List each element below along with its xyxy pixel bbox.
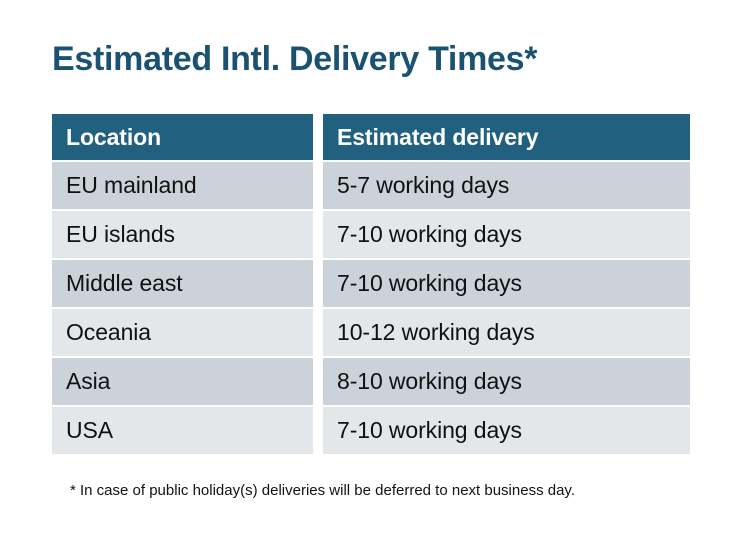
column-header-estimated-delivery: Estimated delivery	[323, 114, 690, 160]
table-row: Middle east 7-10 working days	[52, 260, 690, 307]
table-row: Oceania 10-12 working days	[52, 309, 690, 356]
cell-location: EU islands	[52, 211, 313, 258]
cell-estimated-delivery: 7-10 working days	[323, 211, 690, 258]
table-row: Asia 8-10 working days	[52, 358, 690, 405]
table-header-row: Location Estimated delivery	[52, 114, 690, 160]
cell-location: Oceania	[52, 309, 313, 356]
table-row: EU islands 7-10 working days	[52, 211, 690, 258]
cell-estimated-delivery: 7-10 working days	[323, 407, 690, 454]
cell-estimated-delivery: 5-7 working days	[323, 162, 690, 209]
delivery-times-page: Estimated Intl. Delivery Times* Location…	[0, 0, 745, 536]
table-row: USA 7-10 working days	[52, 407, 690, 454]
table-row: EU mainland 5-7 working days	[52, 162, 690, 209]
cell-location: EU mainland	[52, 162, 313, 209]
cell-estimated-delivery: 7-10 working days	[323, 260, 690, 307]
cell-location: Asia	[52, 358, 313, 405]
cell-estimated-delivery: 8-10 working days	[323, 358, 690, 405]
delivery-times-table: Location Estimated delivery EU mainland …	[52, 114, 690, 456]
footnote-text: * In case of public holiday(s) deliverie…	[70, 481, 575, 501]
cell-estimated-delivery: 10-12 working days	[323, 309, 690, 356]
page-title: Estimated Intl. Delivery Times*	[52, 38, 537, 80]
cell-location: Middle east	[52, 260, 313, 307]
column-header-location: Location	[52, 114, 313, 160]
cell-location: USA	[52, 407, 313, 454]
